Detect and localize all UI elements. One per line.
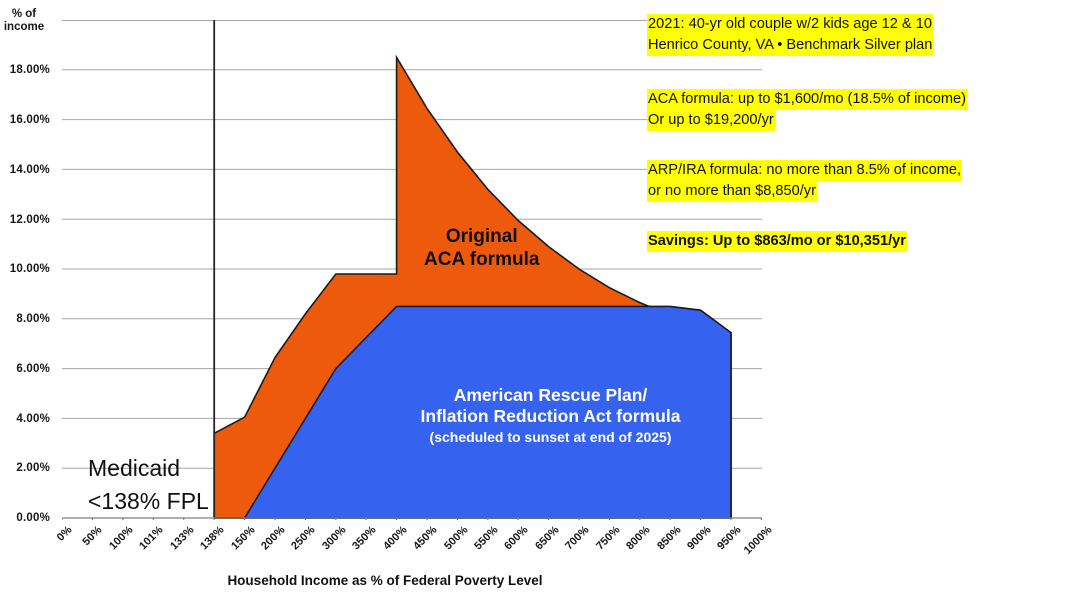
- y-tick-10: 10.00%: [10, 263, 50, 275]
- series-label-aca-line1: Original: [424, 225, 539, 248]
- series-label-arp: American Rescue Plan/ Inflation Reductio…: [378, 385, 723, 448]
- annotation-callout: Savings: Up to $863/mo or $10,351/yr: [647, 231, 907, 252]
- medicaid-label-line1: Medicaid: [88, 452, 209, 485]
- annotation-line: 2021: 40-yr old couple w/2 kids age 12 &…: [647, 14, 933, 35]
- series-label-aca-line2: ACA formula: [424, 248, 539, 271]
- annotation-callout: ACA formula: up to $1,600/mo (18.5% of i…: [647, 89, 967, 131]
- annotation-line: Or up to $19,200/yr: [647, 110, 967, 131]
- y-axis-labels: % of income 18.00% 16.00% 14.00% 12.00% …: [0, 0, 58, 540]
- y-axis-title-line2: income: [0, 21, 50, 34]
- y-axis-title: % of income: [0, 8, 50, 34]
- medicaid-region-label: Medicaid <138% FPL: [88, 452, 209, 518]
- annotation-line: ACA formula: up to $1,600/mo (18.5% of i…: [647, 89, 967, 110]
- series-label-arp-line2: Inflation Reduction Act formula: [378, 406, 723, 427]
- annotation-line: Henrico County, VA • Benchmark Silver pl…: [647, 35, 933, 56]
- annotation-callout: 2021: 40-yr old couple w/2 kids age 12 &…: [647, 14, 933, 56]
- y-axis-title-line1: % of: [0, 8, 50, 21]
- y-tick-14: 14.00%: [10, 164, 50, 176]
- y-tick-8: 8.00%: [16, 313, 50, 325]
- y-tick-16: 16.00%: [10, 114, 50, 126]
- annotation-line: ARP/IRA formula: no more than 8.5% of in…: [647, 160, 962, 181]
- y-tick-12: 12.00%: [10, 214, 50, 226]
- chart-canvas: % of income 18.00% 16.00% 14.00% 12.00% …: [0, 0, 1067, 600]
- x-axis-title: Household Income as % of Federal Poverty…: [0, 573, 770, 588]
- series-label-aca: Original ACA formula: [424, 225, 539, 271]
- y-tick-0: 0.00%: [16, 512, 50, 524]
- y-tick-18: 18.00%: [10, 64, 50, 76]
- series-label-arp-line1: American Rescue Plan/: [378, 385, 723, 406]
- annotation-line: or no more than $8,850/yr: [647, 181, 962, 202]
- medicaid-label-line2: <138% FPL: [88, 485, 209, 518]
- y-tick-6: 6.00%: [16, 363, 50, 375]
- annotation-callout: ARP/IRA formula: no more than 8.5% of in…: [647, 160, 962, 202]
- annotation-line: Savings: Up to $863/mo or $10,351/yr: [647, 231, 907, 252]
- y-tick-4: 4.00%: [16, 413, 50, 425]
- series-label-arp-line3: (scheduled to sunset at end of 2025): [378, 427, 723, 448]
- y-tick-2: 2.00%: [16, 462, 50, 474]
